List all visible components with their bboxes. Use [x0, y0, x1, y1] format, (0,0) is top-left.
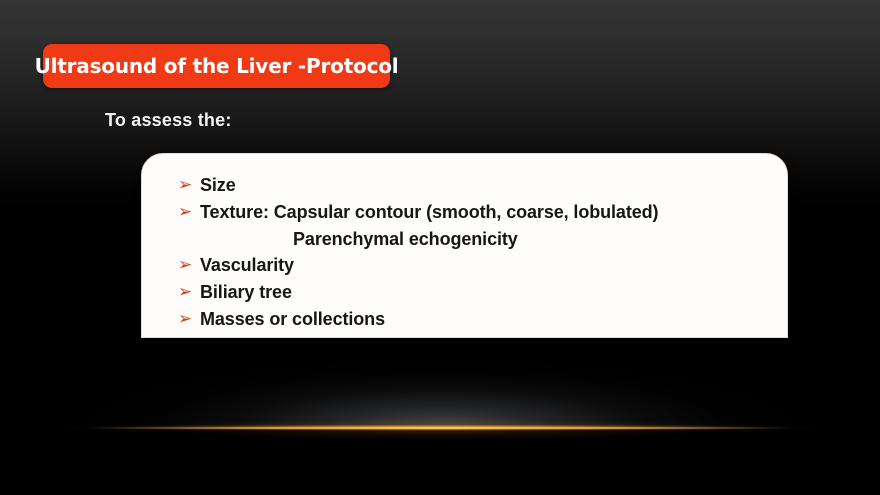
- list-item: ➢ Masses or collections: [178, 306, 777, 332]
- arrow-bullet-icon: ➢: [178, 199, 200, 225]
- content-panel: ➢ Size ➢ Texture: Capsular contour (smoo…: [141, 153, 788, 338]
- arrow-bullet-icon: ➢: [178, 172, 200, 198]
- list-item-label: Vascularity: [200, 252, 294, 278]
- list-item-label: Texture: Capsular contour (smooth, coars…: [200, 199, 658, 225]
- arrow-bullet-icon: ➢: [178, 306, 200, 332]
- list-item-label: Masses or collections: [200, 306, 385, 332]
- list-item-label: Biliary tree: [200, 279, 292, 305]
- arrow-bullet-icon: ➢: [178, 252, 200, 278]
- slide-canvas: Ultrasound of the Liver -Protocol To ass…: [0, 0, 880, 495]
- list-item: ➢ Vascularity: [178, 252, 777, 278]
- list-item: ➢ Biliary tree: [178, 279, 777, 305]
- list-item-label: Size: [200, 172, 236, 198]
- intro-text: To assess the:: [105, 110, 232, 131]
- arrow-bullet-icon: ➢: [178, 279, 200, 305]
- list-item: ➢ Texture: Capsular contour (smooth, coa…: [178, 199, 777, 225]
- list-item: ➢ Size: [178, 172, 777, 198]
- slide-title-banner: Ultrasound of the Liver -Protocol: [43, 44, 390, 88]
- background-amber-core-line: [90, 427, 790, 429]
- page-title: Ultrasound of the Liver -Protocol: [35, 56, 399, 76]
- bullet-list: ➢ Size ➢ Texture: Capsular contour (smoo…: [178, 172, 777, 333]
- list-item-subline: Parenchymal echogenicity: [293, 226, 777, 252]
